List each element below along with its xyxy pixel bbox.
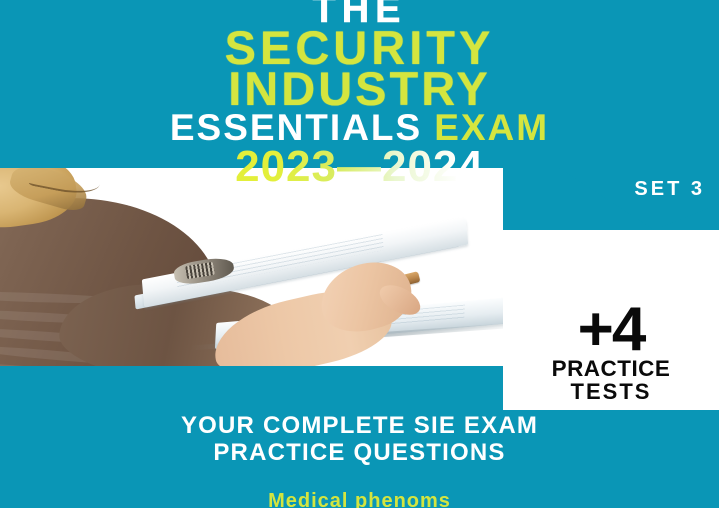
cover-title-block: THE SECURITY INDUSTRY ESSENTIALSEXAM 202… xyxy=(0,0,719,188)
set-banner-label: SET 3 xyxy=(634,178,705,201)
practice-tests-count: +4 xyxy=(503,300,719,358)
footer-tagline-line-2: PRACTICE QUESTIONS xyxy=(0,439,719,466)
practice-tests-badge: +4 PRACTICE TESTS xyxy=(503,300,719,410)
footer-tagline-line-1: YOUR COMPLETE SIE EXAM xyxy=(0,412,719,439)
cover-footer: YOUR COMPLETE SIE EXAM PRACTICE QUESTION… xyxy=(0,412,719,508)
practice-tests-word-practice: PRACTICE xyxy=(501,358,719,380)
book-cover: THE SECURITY INDUSTRY ESSENTIALSEXAM 202… xyxy=(0,0,719,508)
cover-photo xyxy=(0,168,503,366)
practice-tests-word-tests: TESTS xyxy=(503,380,719,403)
set-number-banner: SET 3 xyxy=(503,168,719,230)
title-line-essentials-exam: ESSENTIALSEXAM xyxy=(0,109,719,146)
title-line-industry: INDUSTRY xyxy=(0,68,719,109)
footer-brand-name: Medical phenoms xyxy=(0,466,719,508)
